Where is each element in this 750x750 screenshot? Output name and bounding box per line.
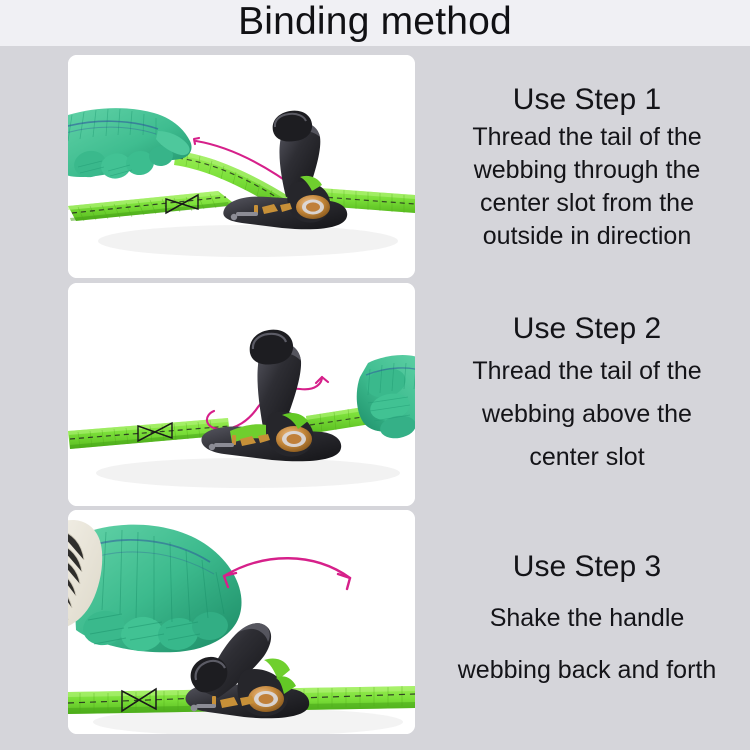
step-line: outside in direction [483, 220, 691, 253]
step-line: Shake the handle [490, 592, 685, 644]
ratchet-strap-step-2-photo [68, 283, 415, 506]
step-heading: Use Step 3 [513, 548, 661, 586]
step-line: center slot from the [480, 187, 694, 220]
step-caption-3: Use Step 3 Shake the handle webbing back… [424, 510, 750, 734]
step-line: Thread the tail of the [472, 350, 701, 393]
page-title: Binding method [0, 0, 750, 45]
step-caption-1: Use Step 1 Thread the tail of the webbin… [424, 55, 750, 278]
binding-method-infographic: Binding method [0, 0, 750, 750]
step-heading: Use Step 1 [513, 81, 661, 119]
step-row-1: Use Step 1 Thread the tail of the webbin… [0, 55, 750, 278]
step-line: center slot [529, 436, 644, 479]
step-line: Thread the tail of the [472, 121, 701, 154]
header-bar: Binding method [0, 0, 750, 46]
ratchet-strap-step-1-photo [68, 55, 415, 278]
step-row-3: Use Step 3 Shake the handle webbing back… [0, 510, 750, 734]
ratchet-strap-step-3-photo [68, 510, 415, 734]
step-line: webbing above the [482, 393, 692, 436]
steps-container: Use Step 1 Thread the tail of the webbin… [0, 46, 750, 750]
step-caption-2: Use Step 2 Thread the tail of the webbin… [424, 283, 750, 506]
step-line: webbing through the [474, 154, 701, 187]
step-heading: Use Step 2 [513, 310, 661, 348]
step-row-2: Use Step 2 Thread the tail of the webbin… [0, 283, 750, 506]
step-line: webbing back and forth [458, 644, 717, 696]
